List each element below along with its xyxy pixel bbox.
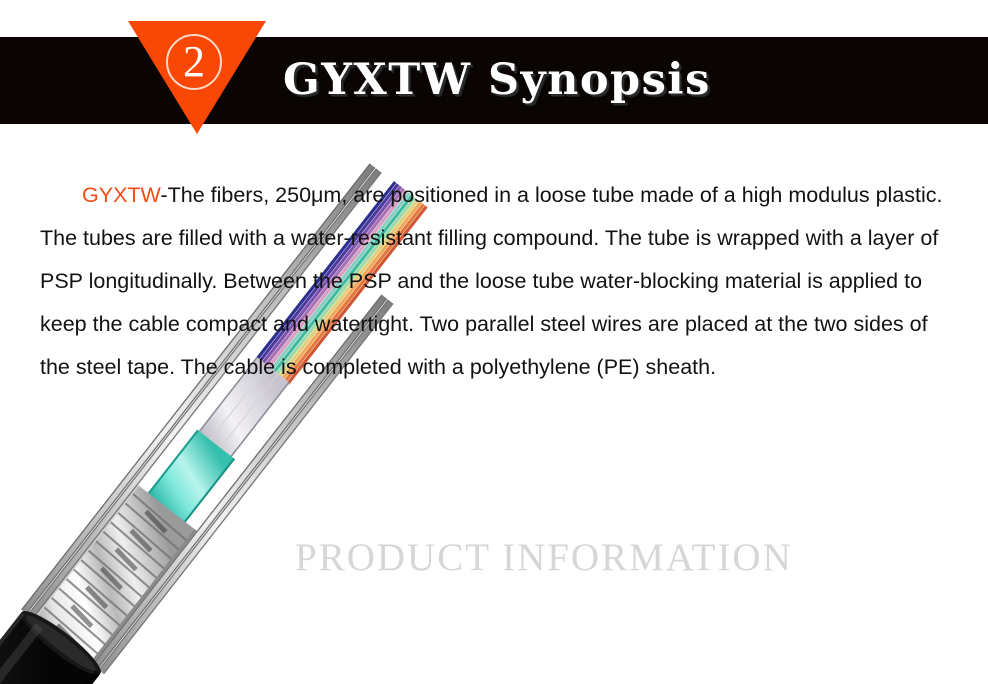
product-information-watermark: PRODUCT INFORMATION <box>295 535 793 580</box>
brand-name: GYXTW <box>82 183 160 207</box>
product-information-page: GYXTW-6B1.3 2 GYXTW Synopsis GYXTW-The f… <box>0 0 988 684</box>
section-number: 2 <box>166 34 222 90</box>
synopsis-body-text: -The fibers, 250μm, are positioned in a … <box>40 183 943 379</box>
synopsis-paragraph: GYXTW-The fibers, 250μm, are positioned … <box>40 174 948 389</box>
section-title: GYXTW Synopsis <box>283 40 711 120</box>
section-number-badge: 2 <box>128 21 266 134</box>
